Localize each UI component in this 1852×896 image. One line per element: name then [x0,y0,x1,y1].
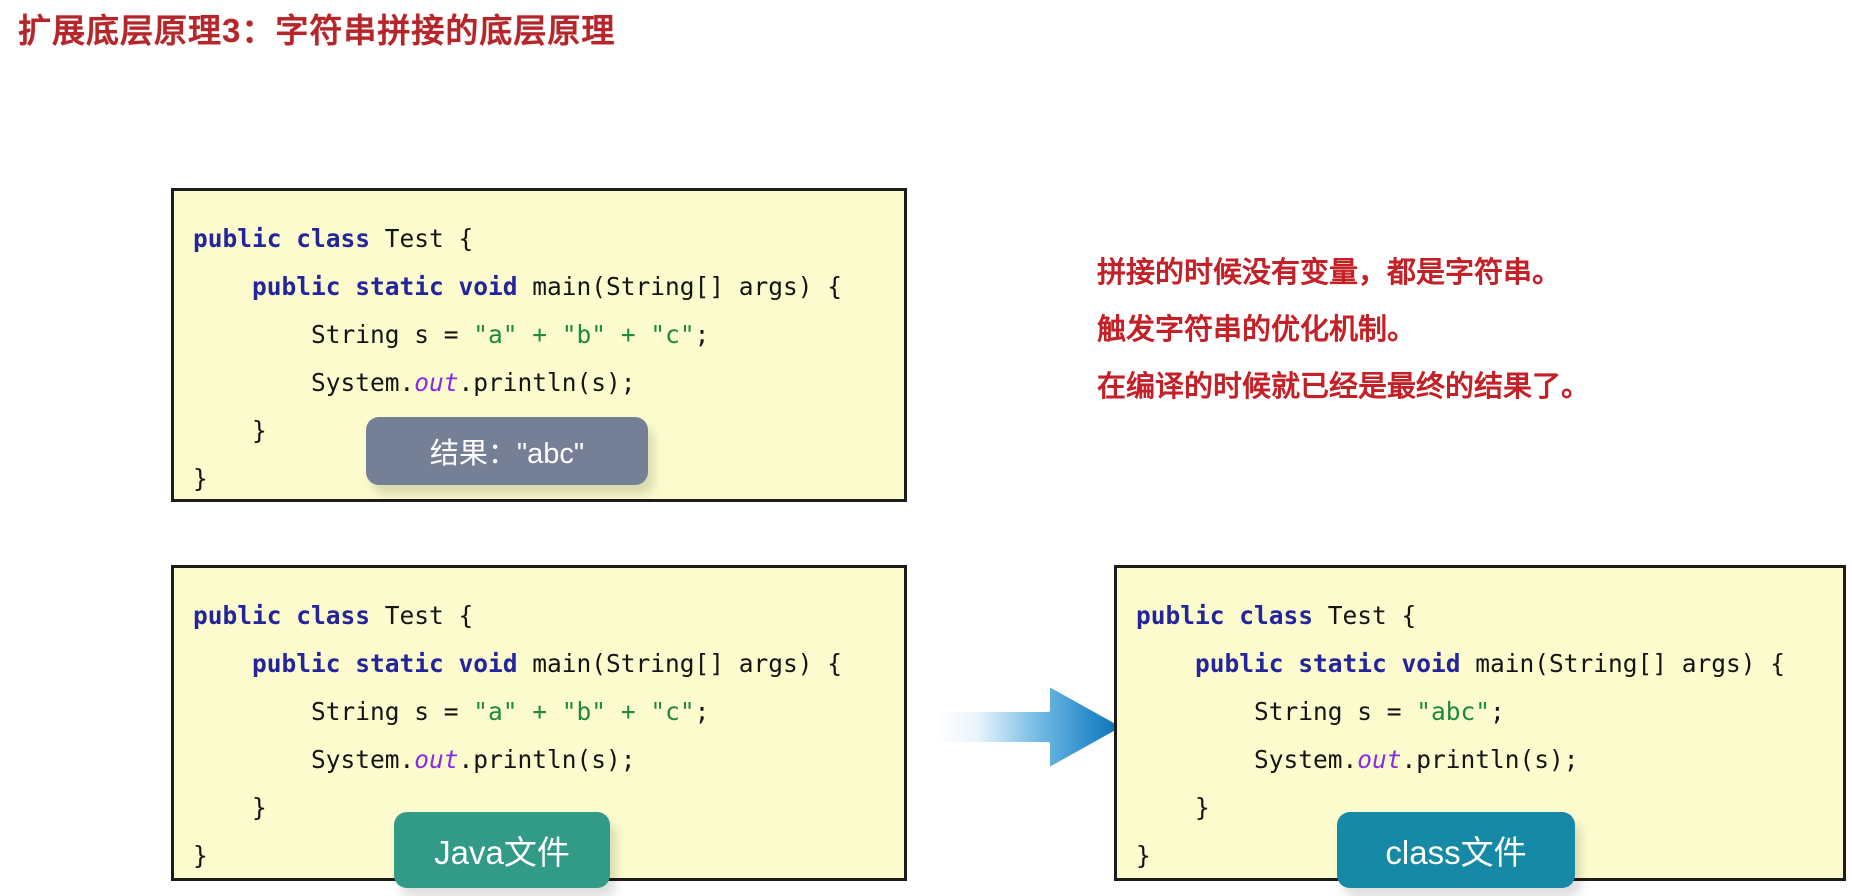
code-token: public class [193,601,385,630]
code-token: main(String[] args) { [532,649,842,678]
code-token: public static void [252,272,532,301]
code-token: + [518,320,562,349]
code-token: "b" [562,320,606,349]
code-token: String s = [193,697,473,726]
java-file-badge: Java文件 [394,812,610,888]
code-token: .println(s); [459,368,636,397]
code-token: System. [193,368,414,397]
code-token: "a" [473,697,517,726]
code-line: System.out.println(s); [1136,736,1843,784]
code-token: } [1136,841,1151,870]
code-token: + [606,697,650,726]
code-token: out [414,368,458,397]
code-token: public static void [252,649,532,678]
code-token: "c" [650,697,694,726]
code-token: + [518,697,562,726]
code-line: public static void main(String[] args) { [193,640,904,688]
code-token: "abc" [1416,697,1490,726]
code-token: String s = [1136,697,1416,726]
code-line: String s = "a" + "b" + "c"; [193,311,904,359]
code-line: public class Test { [193,215,904,263]
code-token: Test { [385,224,474,253]
code-token [193,649,252,678]
code-token: public class [1136,601,1328,630]
code-token: } [193,464,208,493]
code-token: + [606,320,650,349]
code-token: main(String[] args) { [532,272,842,301]
code-line: String s = "a" + "b" + "c"; [193,688,904,736]
code-token: out [414,745,458,774]
code-token: } [1136,793,1210,822]
code-token: ; [695,320,710,349]
result-badge: 结果："abc" [366,417,648,485]
code-token: System. [193,745,414,774]
code-token: System. [1136,745,1357,774]
code-token: } [193,841,208,870]
code-token: ; [695,697,710,726]
code-token: out [1357,745,1401,774]
class-file-badge: class文件 [1337,812,1575,888]
code-token: String s = [193,320,473,349]
code-line: System.out.println(s); [193,736,904,784]
code-token: Test { [385,601,474,630]
code-token: } [193,793,267,822]
annotation-line-3: 在编译的时候就已经是最终的结果了。 [1097,359,1797,416]
code-line: public class Test { [193,592,904,640]
code-token: .println(s); [459,745,636,774]
code-line: public static void main(String[] args) { [1136,640,1843,688]
annotation-line-2: 触发字符串的优化机制。 [1097,302,1797,359]
right-arrow-icon [936,681,1126,773]
code-token: "a" [473,320,517,349]
page-title: 扩展底层原理3：字符串拼接的底层原理 [18,4,615,52]
code-token: Test { [1328,601,1417,630]
code-line: public static void main(String[] args) { [193,263,904,311]
code-token: .println(s); [1402,745,1579,774]
code-token: public class [193,224,385,253]
code-line: public class Test { [1136,592,1843,640]
code-token: } [193,416,267,445]
annotation-line-1: 拼接的时候没有变量，都是字符串。 [1097,245,1797,302]
code-token: public static void [1195,649,1475,678]
code-token: ; [1490,697,1505,726]
code-token: "c" [650,320,694,349]
code-line: System.out.println(s); [193,359,904,407]
code-token [193,272,252,301]
code-line: String s = "abc"; [1136,688,1843,736]
code-token [1136,649,1195,678]
code-token: "b" [562,697,606,726]
annotation-text-block: 拼接的时候没有变量，都是字符串。 触发字符串的优化机制。 在编译的时候就已经是最… [1097,245,1797,416]
code-token: main(String[] args) { [1475,649,1785,678]
